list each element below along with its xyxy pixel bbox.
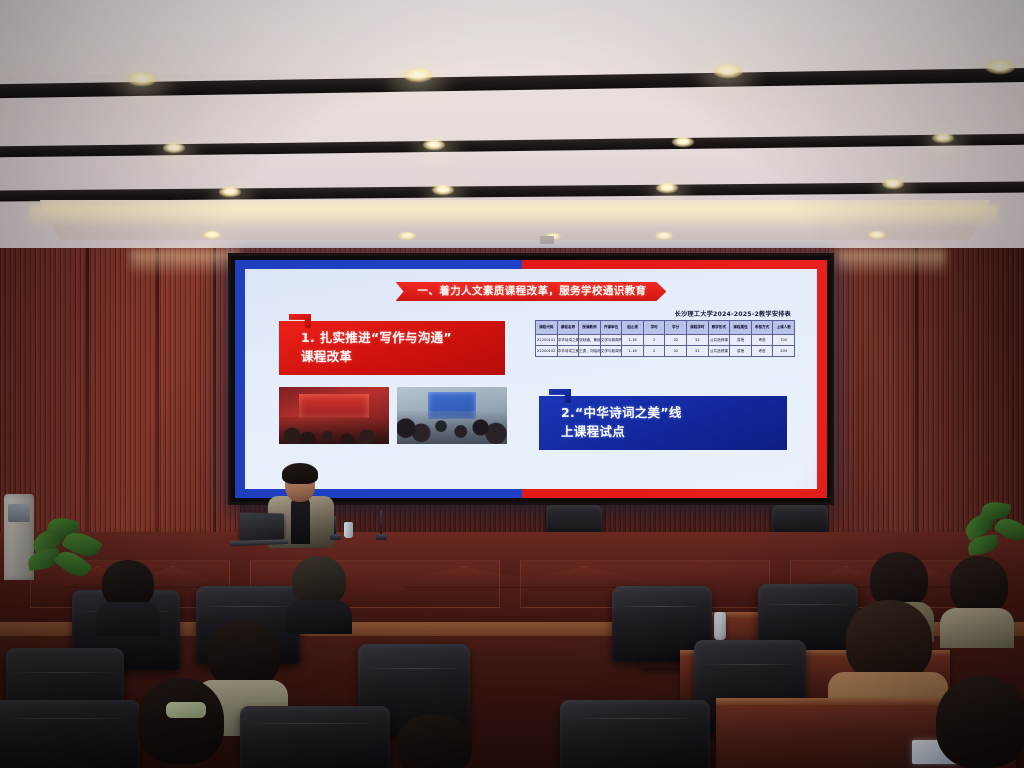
table-cell: 209 xyxy=(773,346,795,357)
table-column-header: 考核方式 xyxy=(751,321,773,335)
table-cell: 公共选修课 xyxy=(708,346,730,357)
slide-photo-group xyxy=(279,387,507,444)
table-cell: 张秋娥、黄冠宇 xyxy=(579,335,601,346)
audience-person xyxy=(930,676,1024,768)
table-header: 课程代码课程名称授课教师开课单位起止周学时学分课程学时教学形式课程属性考核方式上… xyxy=(536,321,795,335)
person-head xyxy=(292,556,346,606)
slide-schedule-table: 课程代码课程名称授课教师开课单位起止周学时学分课程学时教学形式课程属性考核方式上… xyxy=(535,320,795,357)
table-column-header: 课程名称 xyxy=(557,321,579,335)
downlight-icon xyxy=(656,183,678,193)
table-column-header: 起止周 xyxy=(622,321,644,335)
downlight-icon xyxy=(203,231,221,239)
ceiling-light-glow xyxy=(915,126,975,160)
person-head xyxy=(102,560,154,608)
table-cell: 2 xyxy=(643,346,665,357)
table-row: X1200101中华诗词之美（人文选修）张秋娥、黄冠宇文学与新闻传播学院1-16… xyxy=(536,335,795,346)
wall-wash-light xyxy=(130,250,240,276)
wall-panel-seam xyxy=(156,248,159,578)
chair-seam xyxy=(13,672,117,673)
chair-seam xyxy=(249,723,381,724)
slide-table-title: 长沙理工大学2024-2025-2教学安排表 xyxy=(535,309,795,318)
chair-seam xyxy=(365,668,464,669)
chair-seam xyxy=(202,606,294,607)
slide-blue-card: 2.“中华诗词之美”线 上课程试点 xyxy=(539,396,787,450)
downlight-icon xyxy=(432,185,454,195)
audience-person xyxy=(286,556,352,628)
thermos-bottle[interactable] xyxy=(714,612,726,640)
downlight-icon xyxy=(655,232,673,240)
downlight-icon xyxy=(985,60,1015,74)
table-cell: 公共选修课 xyxy=(708,335,730,346)
table-cell: 中华诗词之美（人文选修） xyxy=(557,335,579,346)
presentation-slide: 一、着力人文素质课程改革，服务学校通识教育 1. 扎实推进“写作与沟通” 课程改… xyxy=(235,260,827,498)
person-head xyxy=(950,556,1008,614)
slide-schedule-table-wrap: 长沙理工大学2024-2025-2教学安排表 课程代码课程名称授课教师开课单位起… xyxy=(535,309,795,357)
table-column-header: 上课人数 xyxy=(773,321,795,335)
table-cell: 王勇、刘晓冉 xyxy=(579,346,601,357)
table-cell: X1200102 xyxy=(536,346,558,357)
table-cell: 1-16 xyxy=(622,346,644,357)
downlight-icon xyxy=(868,231,886,239)
chair-seam xyxy=(0,718,131,719)
slide-photo-classroom xyxy=(397,387,507,444)
table-column-header: 课程属性 xyxy=(730,321,752,335)
screen-display-area: 一、着力人文素质课程改革，服务学校通识教育 1. 扎实推进“写作与沟通” 课程改… xyxy=(235,260,827,498)
cove-light-strip xyxy=(30,205,998,225)
person-torso xyxy=(940,608,1014,648)
wall-panel-seam xyxy=(213,248,216,578)
table-cell: 2 xyxy=(643,335,665,346)
table-column-header: 课程代码 xyxy=(536,321,558,335)
podium-microphone[interactable] xyxy=(380,510,382,536)
table-column-header: 学时 xyxy=(643,321,665,335)
downlight-icon xyxy=(672,137,694,147)
card-notch-icon xyxy=(549,389,571,403)
ceiling-sensor-icon xyxy=(540,236,554,244)
table-cell: 32 xyxy=(665,346,687,357)
chair-seam xyxy=(701,664,800,665)
chair-seam xyxy=(569,718,701,719)
audience-chair[interactable] xyxy=(0,700,140,768)
table-cell: 讲授 xyxy=(730,346,752,357)
podium-microphone[interactable] xyxy=(334,516,336,536)
card-notch-icon xyxy=(289,314,311,328)
wall-panel-seam xyxy=(915,248,918,578)
table-cell: X1200101 xyxy=(536,335,558,346)
audience-person xyxy=(940,556,1014,644)
red-card-line-2: 课程改革 xyxy=(301,347,499,366)
podium-water-bottle[interactable] xyxy=(344,522,353,538)
table-column-header: 授课教师 xyxy=(579,321,601,335)
table-column-header: 教学形式 xyxy=(708,321,730,335)
slide-red-card: 1. 扎实推进“写作与沟通” 课程改革 xyxy=(279,321,505,375)
table-column-header: 开课单位 xyxy=(600,321,622,335)
audience-chair[interactable] xyxy=(560,700,710,768)
slide-section-banner-wrap: 一、着力人文素质课程改革，服务学校通识教育 xyxy=(245,282,817,301)
ceiling-light-glow xyxy=(146,136,206,170)
slide-section-banner: 一、着力人文素质课程改革，服务学校通识教育 xyxy=(396,282,667,301)
slide-content-area: 一、着力人文素质课程改革，服务学校通识教育 1. 扎实推进“写作与沟通” 课程改… xyxy=(245,269,817,489)
downlight-icon xyxy=(127,72,157,86)
presenter-shirt xyxy=(291,498,310,544)
table-cell: 考查 xyxy=(751,346,773,357)
wall-wash-light xyxy=(836,250,946,276)
person-head xyxy=(846,600,932,682)
table-body: X1200101中华诗词之美（人文选修）张秋娥、黄冠宇文学与新闻传播学院1-16… xyxy=(536,335,795,357)
red-card-line-1: 1. 扎实推进“写作与沟通” xyxy=(301,328,499,347)
right-potted-plant xyxy=(962,500,1024,564)
downlight-icon xyxy=(882,179,904,189)
table-cell: 700 xyxy=(773,335,795,346)
left-potted-plant xyxy=(26,512,106,582)
audience-person xyxy=(128,678,238,768)
downlight-icon xyxy=(219,187,241,197)
chair-seam xyxy=(618,606,706,607)
table-cell: 1-16 xyxy=(622,335,644,346)
conference-hall-scene: 一、着力人文素质课程改革，服务学校通识教育 1. 扎实推进“写作与沟通” 课程改… xyxy=(0,0,1024,768)
person-torso xyxy=(96,602,160,636)
table-cell: 讲授 xyxy=(730,335,752,346)
table-header-row: 课程代码课程名称授课教师开课单位起止周学时学分课程学时教学形式课程属性考核方式上… xyxy=(536,321,795,335)
hair-scrunchie xyxy=(166,702,206,718)
ceiling-light-glow xyxy=(406,133,466,167)
table-column-header: 学分 xyxy=(665,321,687,335)
table-cell: 32 xyxy=(665,335,687,346)
person-head xyxy=(138,678,224,764)
downlight-icon xyxy=(163,143,185,153)
slide-red-card-text: 1. 扎实推进“写作与沟通” 课程改革 xyxy=(301,328,499,366)
downlight-icon xyxy=(398,232,416,240)
blue-card-line-1: 2.“中华诗词之美”线 xyxy=(561,403,781,422)
ceiling xyxy=(0,0,1024,250)
table-column-header: 课程学时 xyxy=(687,321,709,335)
slide-blue-card-text: 2.“中华诗词之美”线 上课程试点 xyxy=(561,403,781,441)
audience-person xyxy=(388,714,484,768)
audience-person xyxy=(96,560,160,630)
table-cell: 32 xyxy=(687,335,709,346)
downlight-icon xyxy=(403,68,433,82)
person-head xyxy=(936,676,1024,768)
table-cell: 中华诗词之美（人文选修） xyxy=(557,346,579,357)
presenter-hair xyxy=(282,463,318,484)
blue-card-line-2: 上课程试点 xyxy=(561,422,781,441)
table-cell: 文学与新闻传播学院 xyxy=(600,346,622,357)
table-cell: 考查 xyxy=(751,335,773,346)
person-torso xyxy=(286,600,352,634)
table-cell: 32 xyxy=(687,346,709,357)
slide-photo-conference xyxy=(279,387,389,444)
downlight-icon xyxy=(713,64,743,78)
downlight-icon xyxy=(423,140,445,150)
table-row: X1200102中华诗词之美（人文选修）王勇、刘晓冉文学与新闻传播学院1-162… xyxy=(536,346,795,357)
podium-laptop[interactable] xyxy=(240,512,284,542)
person-head xyxy=(396,714,472,768)
audience-chair[interactable] xyxy=(240,706,390,768)
downlight-icon xyxy=(932,133,954,143)
table-cell: 文学与新闻传播学院 xyxy=(600,335,622,346)
